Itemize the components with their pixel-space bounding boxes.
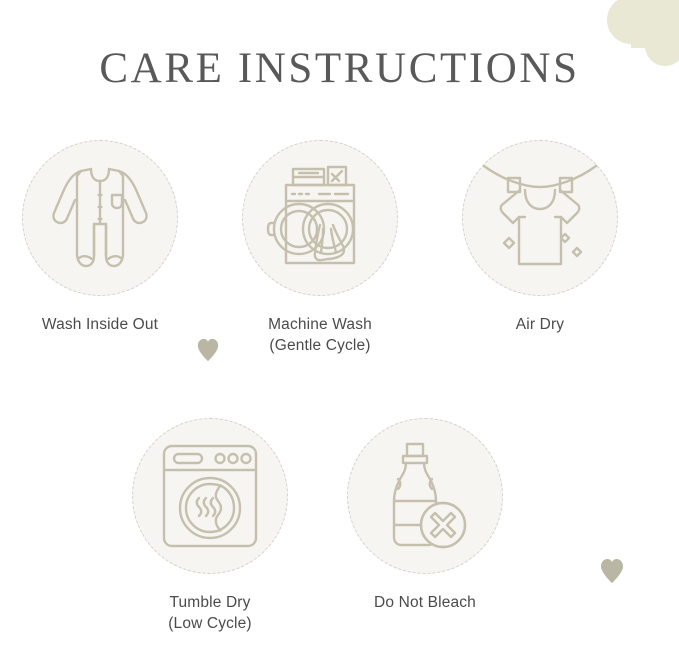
baby-onesie-icon	[50, 162, 150, 274]
no-bleach-bottle-icon	[377, 441, 473, 551]
care-card-label-group: Wash Inside Out	[22, 314, 178, 335]
care-card-label-group: Do Not Bleach	[347, 592, 503, 613]
care-card-label: Air Dry	[516, 316, 564, 333]
care-icon-disc	[22, 140, 178, 296]
care-icon-disc	[132, 418, 288, 574]
care-icon-disc	[347, 418, 503, 574]
care-card-do-not-bleach[interactable]: Do Not Bleach	[347, 418, 503, 613]
washing-machine-icon	[266, 163, 374, 273]
care-card-label-group: Machine Wash (Gentle Cycle)	[242, 314, 398, 356]
heart-icon	[600, 558, 624, 584]
care-card-sublabel: (Gentle Cycle)	[242, 335, 398, 356]
care-instructions-page: CARE INSTRUCTIONS	[0, 0, 679, 668]
care-icon-disc	[242, 140, 398, 296]
tumble-dryer-icon	[160, 444, 260, 548]
care-card-sublabel: (Low Cycle)	[132, 613, 288, 634]
care-card-label-group: Air Dry	[462, 314, 618, 335]
heart-icon	[196, 338, 220, 362]
care-card-label: Do Not Bleach	[374, 594, 476, 611]
care-card-label: Wash Inside Out	[42, 316, 158, 333]
care-card-wash-inside-out[interactable]: Wash Inside Out	[22, 140, 178, 335]
care-card-air-dry[interactable]: Air Dry	[462, 140, 618, 335]
clothesline-shirt-icon	[481, 160, 599, 276]
care-card-label: Machine Wash	[268, 316, 372, 333]
care-card-label-group: Tumble Dry (Low Cycle)	[132, 592, 288, 634]
care-card-tumble-dry[interactable]: Tumble Dry (Low Cycle)	[132, 418, 288, 634]
care-card-label: Tumble Dry	[169, 594, 250, 611]
care-icon-disc	[462, 140, 618, 296]
page-title: CARE INSTRUCTIONS	[0, 44, 679, 93]
care-card-machine-wash[interactable]: Machine Wash (Gentle Cycle)	[242, 140, 398, 356]
